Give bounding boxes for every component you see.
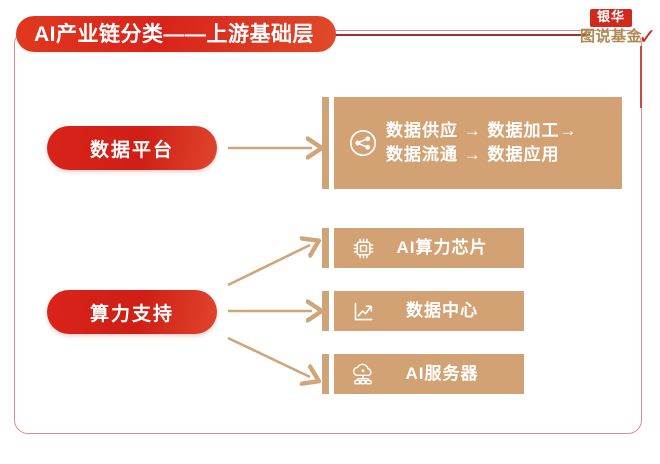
card-ai-chip[interactable]: AI算力芯片 [322, 228, 524, 268]
node-data-platform-label: 数据平台 [90, 135, 174, 162]
page-title-badge: AI产业链分类——上游基础层 [16, 16, 336, 52]
cloud-server-icon [346, 357, 380, 391]
chart-up-icon [346, 294, 380, 328]
card-ai-server[interactable]: AI服务器 [322, 354, 524, 394]
card-data-center[interactable]: 数据中心 [322, 291, 524, 331]
brand-badge-text: 银华 [590, 9, 632, 27]
card-body: AI服务器 [334, 354, 524, 394]
node-data-platform[interactable]: 数据平台 [47, 126, 217, 170]
node-compute-support-label: 算力支持 [90, 299, 174, 326]
card-ai-chip-text: AI算力芯片 [386, 236, 524, 260]
card-accent-bar [322, 228, 329, 268]
card-accent-bar [322, 354, 329, 394]
card-data-center-text: 数据中心 [386, 299, 524, 323]
brand-name-text: 图说基金 [580, 28, 642, 45]
node-compute-support[interactable]: 算力支持 [47, 290, 217, 334]
brand-logo: 银华 图说基金 ✓ [574, 8, 648, 45]
card-body: 数据供应 → 数据加工→ 数据流通 → 数据应用 [334, 97, 622, 189]
card-body: 数据中心 [334, 291, 524, 331]
page-title: AI产业链分类——上游基础层 [34, 24, 314, 45]
share-icon [346, 126, 380, 160]
card-ai-server-text: AI服务器 [386, 362, 524, 386]
brand-vertical-rule [640, 46, 642, 108]
card-accent-bar [322, 291, 329, 331]
card-data-chain-text: 数据供应 → 数据加工→ 数据流通 → 数据应用 [386, 119, 577, 167]
brand-name: 图说基金 ✓ [574, 28, 648, 45]
card-body: AI算力芯片 [334, 228, 524, 268]
check-icon: ✓ [638, 26, 657, 48]
card-accent-bar [322, 97, 329, 189]
card-data-chain[interactable]: 数据供应 → 数据加工→ 数据流通 → 数据应用 [322, 97, 622, 189]
chip-icon [346, 231, 380, 265]
